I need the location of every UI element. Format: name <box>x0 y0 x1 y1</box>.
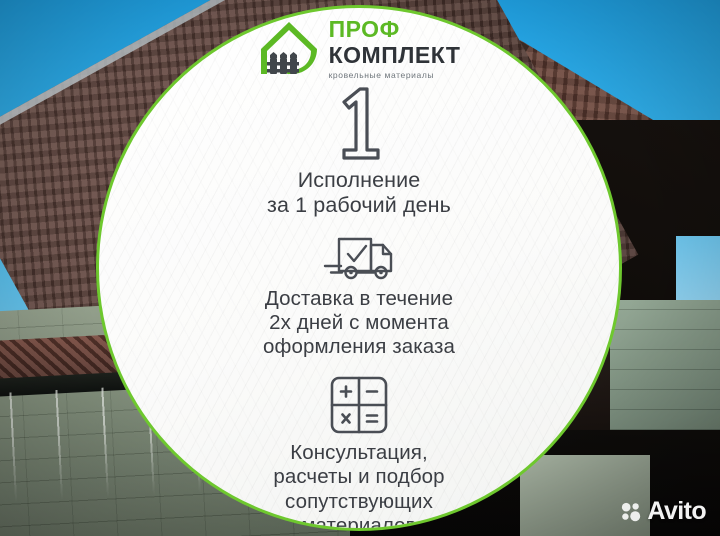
feature-block-execution: Исполнение за 1 рабочий день <box>267 84 451 219</box>
caption-line: за 1 рабочий день <box>267 193 451 218</box>
logo-line-2: КОМПЛЕКТ <box>329 44 461 67</box>
info-circle-panel: ПРОФ КОМПЛЕКТ кровельные материалы Испол… <box>96 5 622 531</box>
logo-line-1: ПРОФ <box>329 18 461 41</box>
caption-line: сопутствующих <box>273 490 444 514</box>
brand-logo: ПРОФ КОМПЛЕКТ кровельные материалы <box>258 18 461 80</box>
caption-line: оформления заказа <box>263 335 455 359</box>
calculator-icon <box>328 375 390 435</box>
avito-watermark: Avito <box>621 499 706 524</box>
caption-line: 2х дней с момента <box>263 311 455 335</box>
logo-tagline: кровельные материалы <box>329 71 461 80</box>
caption-execution: Исполнение за 1 рабочий день <box>267 168 451 219</box>
caption-line: расчеты и подбор <box>273 465 444 489</box>
avito-dots-icon <box>621 502 641 522</box>
avito-wordmark: Avito <box>647 499 706 524</box>
caption-delivery: Доставка в течение 2х дней с момента офо… <box>263 287 455 360</box>
caption-consultation: Консультация, расчеты и подбор сопутству… <box>273 441 444 531</box>
caption-line: Доставка в течение <box>263 287 455 311</box>
promo-image: ПРОФ КОМПЛЕКТ кровельные материалы Испол… <box>0 0 720 536</box>
delivery-truck-check-icon <box>321 235 397 281</box>
house-fence-logo-icon <box>258 18 320 80</box>
feature-block-consultation: Консультация, расчеты и подбор сопутству… <box>273 375 444 531</box>
number-one-outline-icon <box>322 84 396 162</box>
caption-line: Консультация, <box>273 441 444 465</box>
feature-block-delivery: Доставка в течение 2х дней с момента офо… <box>263 235 455 360</box>
caption-line: Исполнение <box>267 168 451 193</box>
